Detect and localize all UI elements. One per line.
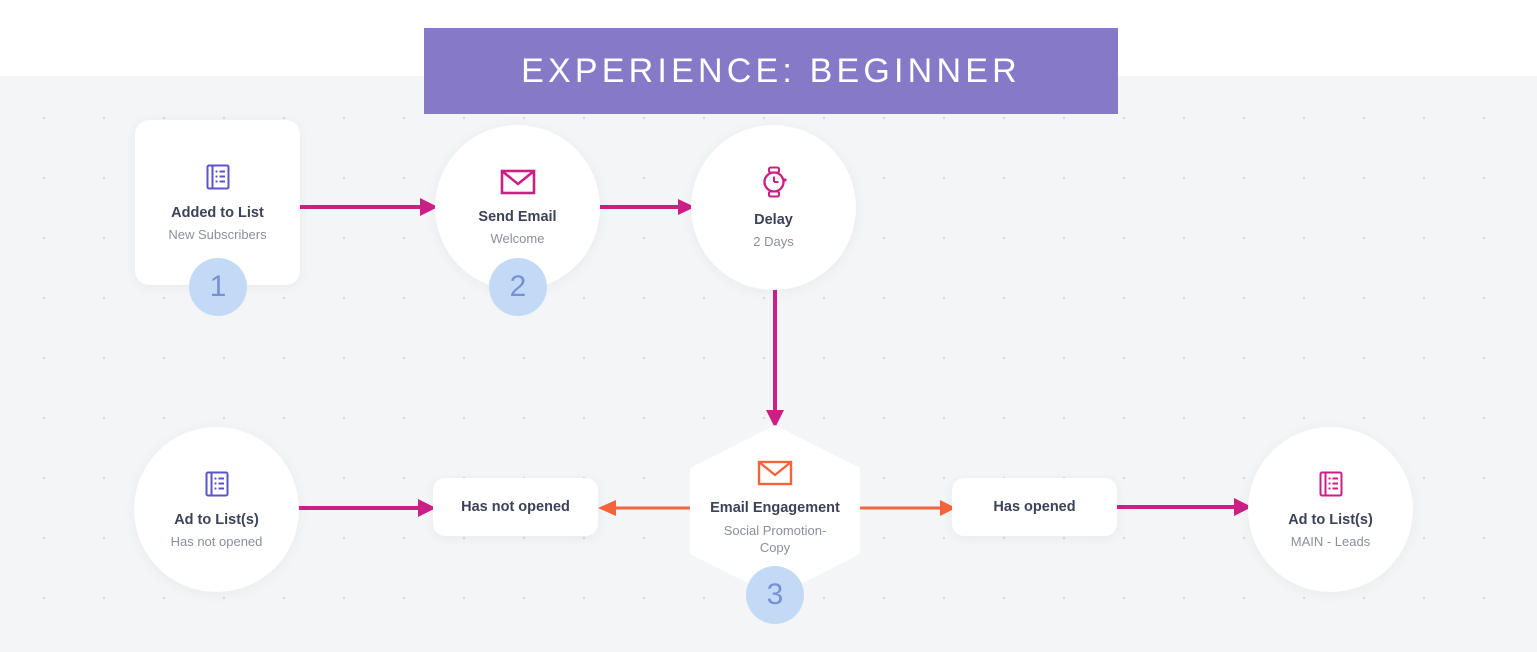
- node-ad-to-lists-right[interactable]: Ad to List(s) MAIN - Leads: [1248, 427, 1413, 592]
- connector-send-email-to-delay: [600, 197, 695, 217]
- experience-banner: EXPERIENCE: BEGINNER: [424, 28, 1118, 114]
- node-title: Send Email: [478, 208, 556, 226]
- node-title: Added to List: [171, 204, 264, 222]
- node-subtitle: 2 Days: [753, 233, 793, 251]
- list-notebook-icon: [1316, 469, 1346, 499]
- connector-added-to-send-email: [300, 197, 438, 217]
- label-has-opened[interactable]: Has opened: [952, 478, 1117, 536]
- watch-icon: [759, 165, 789, 199]
- node-title: Ad to List(s): [1288, 511, 1373, 529]
- node-subtitle: MAIN - Leads: [1291, 533, 1370, 551]
- node-subtitle: New Subscribers: [168, 226, 266, 244]
- connector-engagement-to-has-not-opened: [598, 498, 696, 518]
- node-title: Ad to List(s): [174, 511, 259, 529]
- node-subtitle: Welcome: [491, 230, 545, 248]
- step-badge-3: 3: [746, 566, 804, 624]
- node-ad-to-lists-left[interactable]: Ad to List(s) Has not opened: [134, 427, 299, 592]
- connector-has-opened-to-ad-right: [1114, 497, 1252, 517]
- node-delay[interactable]: Delay 2 Days: [691, 125, 856, 290]
- node-title: Delay: [754, 211, 793, 229]
- step-badge-2: 2: [489, 258, 547, 316]
- workflow-canvas-root: Added to List New Subscribers 1 Send Ema…: [0, 0, 1537, 652]
- label-has-not-opened[interactable]: Has not opened: [433, 478, 598, 536]
- node-title: Email Engagement: [710, 499, 840, 517]
- envelope-icon: [757, 459, 793, 487]
- connector-has-not-opened-to-ad-left: [298, 498, 436, 518]
- banner-title: EXPERIENCE: BEGINNER: [521, 52, 1021, 91]
- list-notebook-icon: [202, 469, 232, 499]
- list-notebook-icon: [203, 162, 233, 192]
- connector-engagement-to-has-opened: [856, 498, 956, 518]
- envelope-icon: [500, 168, 536, 196]
- connector-delay-to-engagement: [762, 278, 788, 428]
- step-badge-1: 1: [189, 258, 247, 316]
- node-subtitle: Has not opened: [171, 533, 263, 551]
- node-subtitle: Social Promotion-Copy: [716, 522, 834, 557]
